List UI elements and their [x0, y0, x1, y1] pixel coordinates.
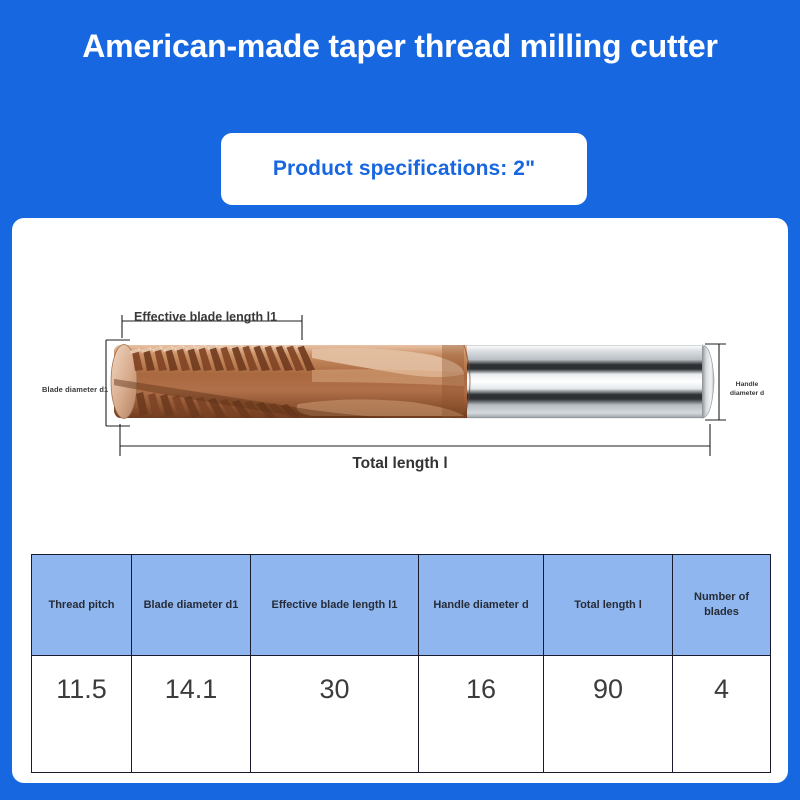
column-header-thread-pitch: Thread pitch [32, 555, 132, 656]
label-total-length: Total length l [12, 455, 788, 473]
label-effective-blade-length: Effective blade length l1 [134, 310, 277, 324]
spec-badge-label: Product specifications: 2" [273, 157, 535, 181]
cutter-shank [452, 345, 714, 418]
column-header-total-length: Total length l [544, 555, 673, 656]
page-header: American-made taper thread milling cutte… [0, 0, 800, 218]
cell-blade-diameter: 14.1 [132, 656, 251, 773]
content-card: Effective blade length l1 Blade diameter… [12, 218, 788, 783]
spec-badge: Product specifications: 2" [221, 133, 587, 205]
label-blade-diameter: Blade diameter d1 [42, 385, 108, 394]
cell-effective-blade-length: 30 [251, 656, 419, 773]
table-row: 11.5 14.1 30 16 90 4 [32, 656, 771, 773]
page-title: American-made taper thread milling cutte… [40, 27, 760, 66]
column-header-blade-diameter: Blade diameter d1 [132, 555, 251, 656]
cutter-head [108, 342, 470, 424]
cell-total-length: 90 [544, 656, 673, 773]
column-header-number-of-blades: Number of blades [673, 555, 771, 656]
column-header-effective-blade-length: Effective blade length l1 [251, 555, 419, 656]
label-handle-diameter: Handle diameter d [721, 380, 773, 398]
cell-number-of-blades: 4 [673, 656, 771, 773]
cell-thread-pitch: 11.5 [32, 656, 132, 773]
cutter-diagram: Effective blade length l1 Blade diameter… [12, 218, 788, 528]
cell-handle-diameter: 16 [419, 656, 544, 773]
cutter-illustration [12, 218, 788, 528]
table-header-row: Thread pitch Blade diameter d1 Effective… [32, 555, 771, 656]
column-header-handle-diameter: Handle diameter d [419, 555, 544, 656]
product-spec-page: American-made taper thread milling cutte… [0, 0, 800, 800]
specification-table: Thread pitch Blade diameter d1 Effective… [31, 554, 771, 773]
